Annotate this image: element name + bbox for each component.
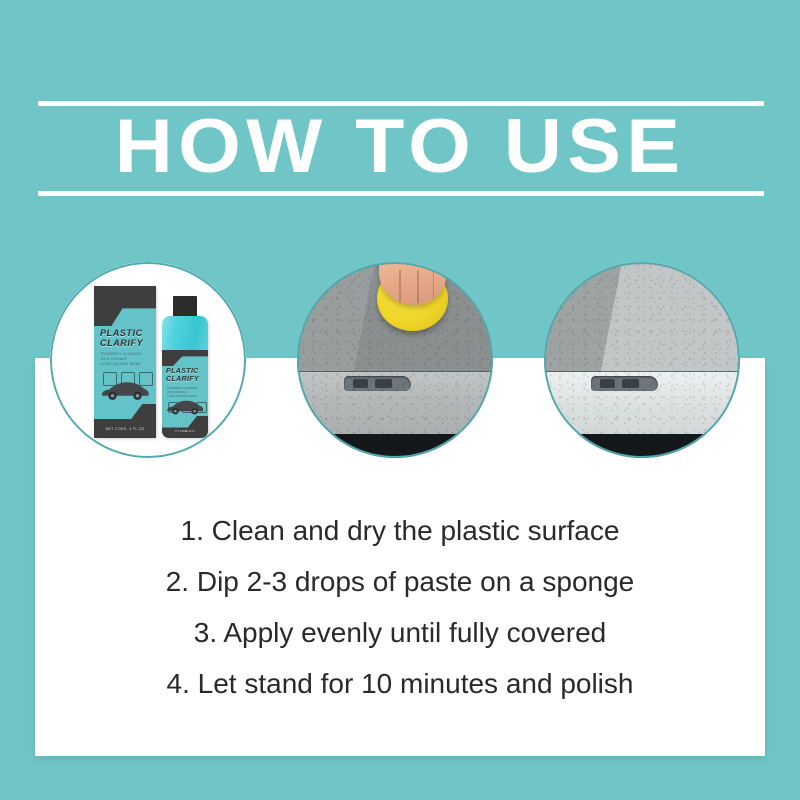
- bottle-brand-line-2: CLARIFY: [166, 376, 199, 383]
- product-package-photo: PLASTIC CLARIFY POWERFUL CLEANINGANTI-OX…: [50, 262, 246, 458]
- box-brand-text: PLASTIC CLARIFY: [100, 328, 152, 348]
- instruction-step: 1. Clean and dry the plastic surface: [35, 505, 765, 556]
- bottle-volume-text: FT 120ML/4.O: [162, 429, 208, 433]
- box-subtitle: POWERFUL CLEANINGANTI-OXIDANTLONG LASTIN…: [101, 352, 151, 367]
- applying-sponge-photo: [297, 262, 493, 458]
- instruction-list: 1. Clean and dry the plastic surface 2. …: [35, 505, 765, 709]
- car-trim-before-scene: [297, 262, 493, 458]
- instruction-step: 3. Apply evenly until fully covered: [35, 607, 765, 658]
- product-bottle: PLASTIC CLARIFY POWERFUL CLEANINGANTI-OX…: [162, 296, 208, 438]
- title-block: HOW TO USE: [0, 95, 800, 205]
- product-box: PLASTIC CLARIFY POWERFUL CLEANINGANTI-OX…: [94, 286, 156, 438]
- how-to-use-poster: HOW TO USE PLASTIC CLARIFY POWERFUL CLEA…: [0, 0, 800, 800]
- box-brand-line-1: PLASTIC: [100, 328, 143, 338]
- instruction-step: 4. Let stand for 10 minutes and polish: [35, 658, 765, 709]
- finger-crease: [433, 270, 435, 303]
- product-package-scene: PLASTIC CLARIFY POWERFUL CLEANINGANTI-OX…: [50, 262, 246, 458]
- car-silhouette-icon: [99, 376, 151, 402]
- car-trim-after-scene: [544, 262, 740, 458]
- instruction-step: 2. Dip 2-3 drops of paste on a sponge: [35, 556, 765, 607]
- box-chevron-top: [94, 286, 156, 326]
- bottle-body: PLASTIC CLARIFY POWERFUL CLEANINGANTI-OX…: [162, 316, 208, 438]
- bottle-brand-text: PLASTIC CLARIFY: [166, 368, 204, 384]
- finger-crease: [417, 270, 419, 303]
- car-silhouette-icon: [165, 396, 205, 416]
- box-volume-text: NET CONS. 4 FL.OZ: [94, 427, 156, 431]
- title-rule-bottom: [38, 191, 764, 196]
- bottle-brand-line-1: PLASTIC: [166, 368, 199, 375]
- page-title: HOW TO USE: [0, 105, 800, 189]
- box-chevron-bottom: [94, 404, 156, 438]
- restored-surface-photo: [544, 262, 740, 458]
- plastic-texture-overlay: [544, 262, 740, 458]
- bottle-cap: [173, 296, 197, 318]
- box-brand-line-2: CLARIFY: [100, 338, 143, 348]
- finger-crease: [399, 270, 401, 303]
